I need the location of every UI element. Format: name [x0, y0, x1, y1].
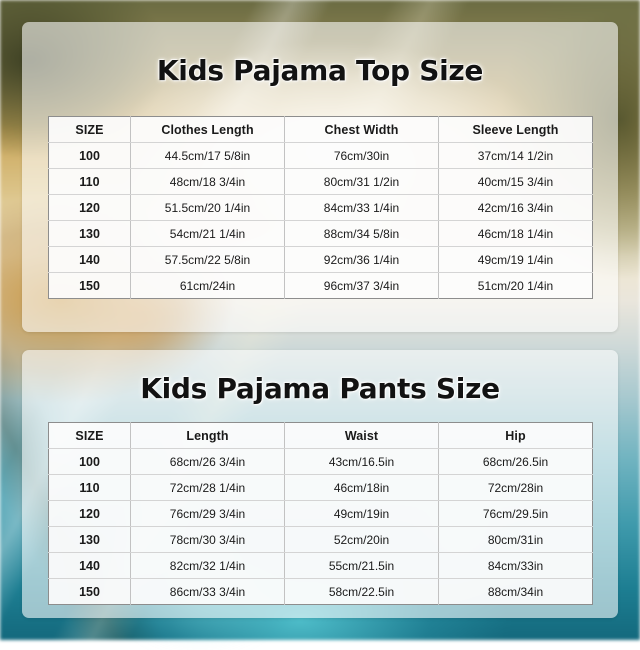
- table-row: 110 72cm/28 1/4in 46cm/18in 72cm/28in: [49, 475, 593, 501]
- cell-waist: 58cm/22.5in: [285, 579, 439, 605]
- pajama-pants-size-table: SIZE Length Waist Hip 100 68cm/26 3/4in …: [48, 422, 593, 605]
- cell-length: 78cm/30 3/4in: [131, 527, 285, 553]
- cell-length: 82cm/32 1/4in: [131, 553, 285, 579]
- cell-clothes-length: 48cm/18 3/4in: [131, 169, 285, 195]
- table-row: 120 76cm/29 3/4in 49cm/19in 76cm/29.5in: [49, 501, 593, 527]
- cell-clothes-length: 57.5cm/22 5/8in: [131, 247, 285, 273]
- cell-chest-width: 80cm/31 1/2in: [285, 169, 439, 195]
- table-row: 140 57.5cm/22 5/8in 92cm/36 1/4in 49cm/1…: [49, 247, 593, 273]
- cell-sleeve-length: 42cm/16 3/4in: [439, 195, 593, 221]
- table-row: 120 51.5cm/20 1/4in 84cm/33 1/4in 42cm/1…: [49, 195, 593, 221]
- table-row: 110 48cm/18 3/4in 80cm/31 1/2in 40cm/15 …: [49, 169, 593, 195]
- cell-waist: 52cm/20in: [285, 527, 439, 553]
- cell-size: 130: [49, 221, 131, 247]
- table-row: 140 82cm/32 1/4in 55cm/21.5in 84cm/33in: [49, 553, 593, 579]
- column-header-hip: Hip: [439, 423, 593, 449]
- table-header-row: SIZE Length Waist Hip: [49, 423, 593, 449]
- cell-size: 140: [49, 247, 131, 273]
- cell-chest-width: 84cm/33 1/4in: [285, 195, 439, 221]
- cell-size: 120: [49, 195, 131, 221]
- column-header-length: Length: [131, 423, 285, 449]
- column-header-sleeve-length: Sleeve Length: [439, 117, 593, 143]
- cell-size: 140: [49, 553, 131, 579]
- cell-clothes-length: 54cm/21 1/4in: [131, 221, 285, 247]
- table-row: 130 54cm/21 1/4in 88cm/34 5/8in 46cm/18 …: [49, 221, 593, 247]
- cell-waist: 46cm/18in: [285, 475, 439, 501]
- pajama-pants-size-card: Kids Pajama Pants Size SIZE Length Waist…: [22, 350, 618, 618]
- cell-chest-width: 88cm/34 5/8in: [285, 221, 439, 247]
- cell-size: 110: [49, 169, 131, 195]
- cell-sleeve-length: 49cm/19 1/4in: [439, 247, 593, 273]
- cell-hip: 88cm/34in: [439, 579, 593, 605]
- cell-size: 130: [49, 527, 131, 553]
- cell-size: 150: [49, 579, 131, 605]
- cell-length: 68cm/26 3/4in: [131, 449, 285, 475]
- cell-length: 72cm/28 1/4in: [131, 475, 285, 501]
- column-header-chest-width: Chest Width: [285, 117, 439, 143]
- cell-size: 120: [49, 501, 131, 527]
- cell-sleeve-length: 46cm/18 1/4in: [439, 221, 593, 247]
- cell-waist: 43cm/16.5in: [285, 449, 439, 475]
- cell-clothes-length: 61cm/24in: [131, 273, 285, 299]
- pajama-top-size-card: Kids Pajama Top Size SIZE Clothes Length…: [22, 22, 618, 332]
- cell-length: 86cm/33 3/4in: [131, 579, 285, 605]
- cell-chest-width: 76cm/30in: [285, 143, 439, 169]
- cell-size: 150: [49, 273, 131, 299]
- pajama-pants-title: Kids Pajama Pants Size: [22, 372, 618, 405]
- cell-clothes-length: 44.5cm/17 5/8in: [131, 143, 285, 169]
- pajama-top-title: Kids Pajama Top Size: [22, 54, 618, 87]
- cell-waist: 55cm/21.5in: [285, 553, 439, 579]
- cell-sleeve-length: 51cm/20 1/4in: [439, 273, 593, 299]
- cell-waist: 49cm/19in: [285, 501, 439, 527]
- cell-chest-width: 96cm/37 3/4in: [285, 273, 439, 299]
- cell-sleeve-length: 40cm/15 3/4in: [439, 169, 593, 195]
- cell-size: 110: [49, 475, 131, 501]
- column-header-size: SIZE: [49, 117, 131, 143]
- cell-size: 100: [49, 143, 131, 169]
- cell-chest-width: 92cm/36 1/4in: [285, 247, 439, 273]
- cell-length: 76cm/29 3/4in: [131, 501, 285, 527]
- cell-size: 100: [49, 449, 131, 475]
- pajama-top-size-table: SIZE Clothes Length Chest Width Sleeve L…: [48, 116, 593, 299]
- column-header-clothes-length: Clothes Length: [131, 117, 285, 143]
- cell-hip: 68cm/26.5in: [439, 449, 593, 475]
- cell-hip: 84cm/33in: [439, 553, 593, 579]
- table-row: 100 44.5cm/17 5/8in 76cm/30in 37cm/14 1/…: [49, 143, 593, 169]
- table-row: 130 78cm/30 3/4in 52cm/20in 80cm/31in: [49, 527, 593, 553]
- column-header-waist: Waist: [285, 423, 439, 449]
- cell-hip: 76cm/29.5in: [439, 501, 593, 527]
- table-row: 100 68cm/26 3/4in 43cm/16.5in 68cm/26.5i…: [49, 449, 593, 475]
- cell-hip: 80cm/31in: [439, 527, 593, 553]
- table-row: 150 61cm/24in 96cm/37 3/4in 51cm/20 1/4i…: [49, 273, 593, 299]
- cell-clothes-length: 51.5cm/20 1/4in: [131, 195, 285, 221]
- table-row: 150 86cm/33 3/4in 58cm/22.5in 88cm/34in: [49, 579, 593, 605]
- cell-sleeve-length: 37cm/14 1/2in: [439, 143, 593, 169]
- cell-hip: 72cm/28in: [439, 475, 593, 501]
- column-header-size: SIZE: [49, 423, 131, 449]
- table-header-row: SIZE Clothes Length Chest Width Sleeve L…: [49, 117, 593, 143]
